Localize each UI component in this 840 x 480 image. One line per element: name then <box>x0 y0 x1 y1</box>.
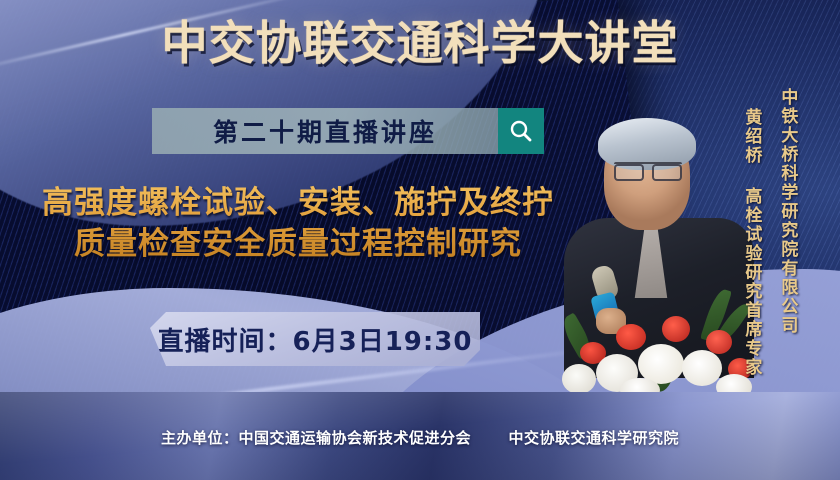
speaker-company-label: 中铁大桥科学研究院有限公司 <box>778 88 796 335</box>
broadcast-time-badge: 直播时间：6月3日19:30 <box>150 312 480 366</box>
footer-organizer: 主办单位：中国交通运输协会新技术促进分会 <box>161 429 471 447</box>
search-button[interactable] <box>498 108 544 154</box>
speaker-glasses <box>614 162 682 179</box>
subtitle-label: 第二十期直播讲座 <box>152 108 498 154</box>
speaker-name-title-label: 黄绍桥 高栓试验研究首席专家 <box>742 108 760 377</box>
footer-credits: 主办单位：中国交通运输协会新技术促进分会 中交协联交通科学研究院 <box>0 427 840 448</box>
livestream-poster: 中交协联交通科学大讲堂 第二十期直播讲座 高强度螺栓试验、安装、施拧及终拧 质量… <box>0 0 840 480</box>
subtitle-bar: 第二十期直播讲座 <box>152 108 544 154</box>
footer-institute: 中交协联交通科学研究院 <box>508 429 679 447</box>
lecture-title: 高强度螺栓试验、安装、施拧及终拧 质量检查安全质量过程控制研究 <box>8 183 588 265</box>
page-title: 中交协联交通科学大讲堂 <box>0 20 840 66</box>
broadcast-time-label: 直播时间：6月3日19:30 <box>158 321 473 358</box>
lecture-title-line1: 高强度螺栓试验、安装、施拧及终拧 <box>42 185 554 221</box>
lecture-title-line2: 质量检查安全质量过程控制研究 <box>8 224 588 265</box>
search-icon <box>508 118 534 144</box>
